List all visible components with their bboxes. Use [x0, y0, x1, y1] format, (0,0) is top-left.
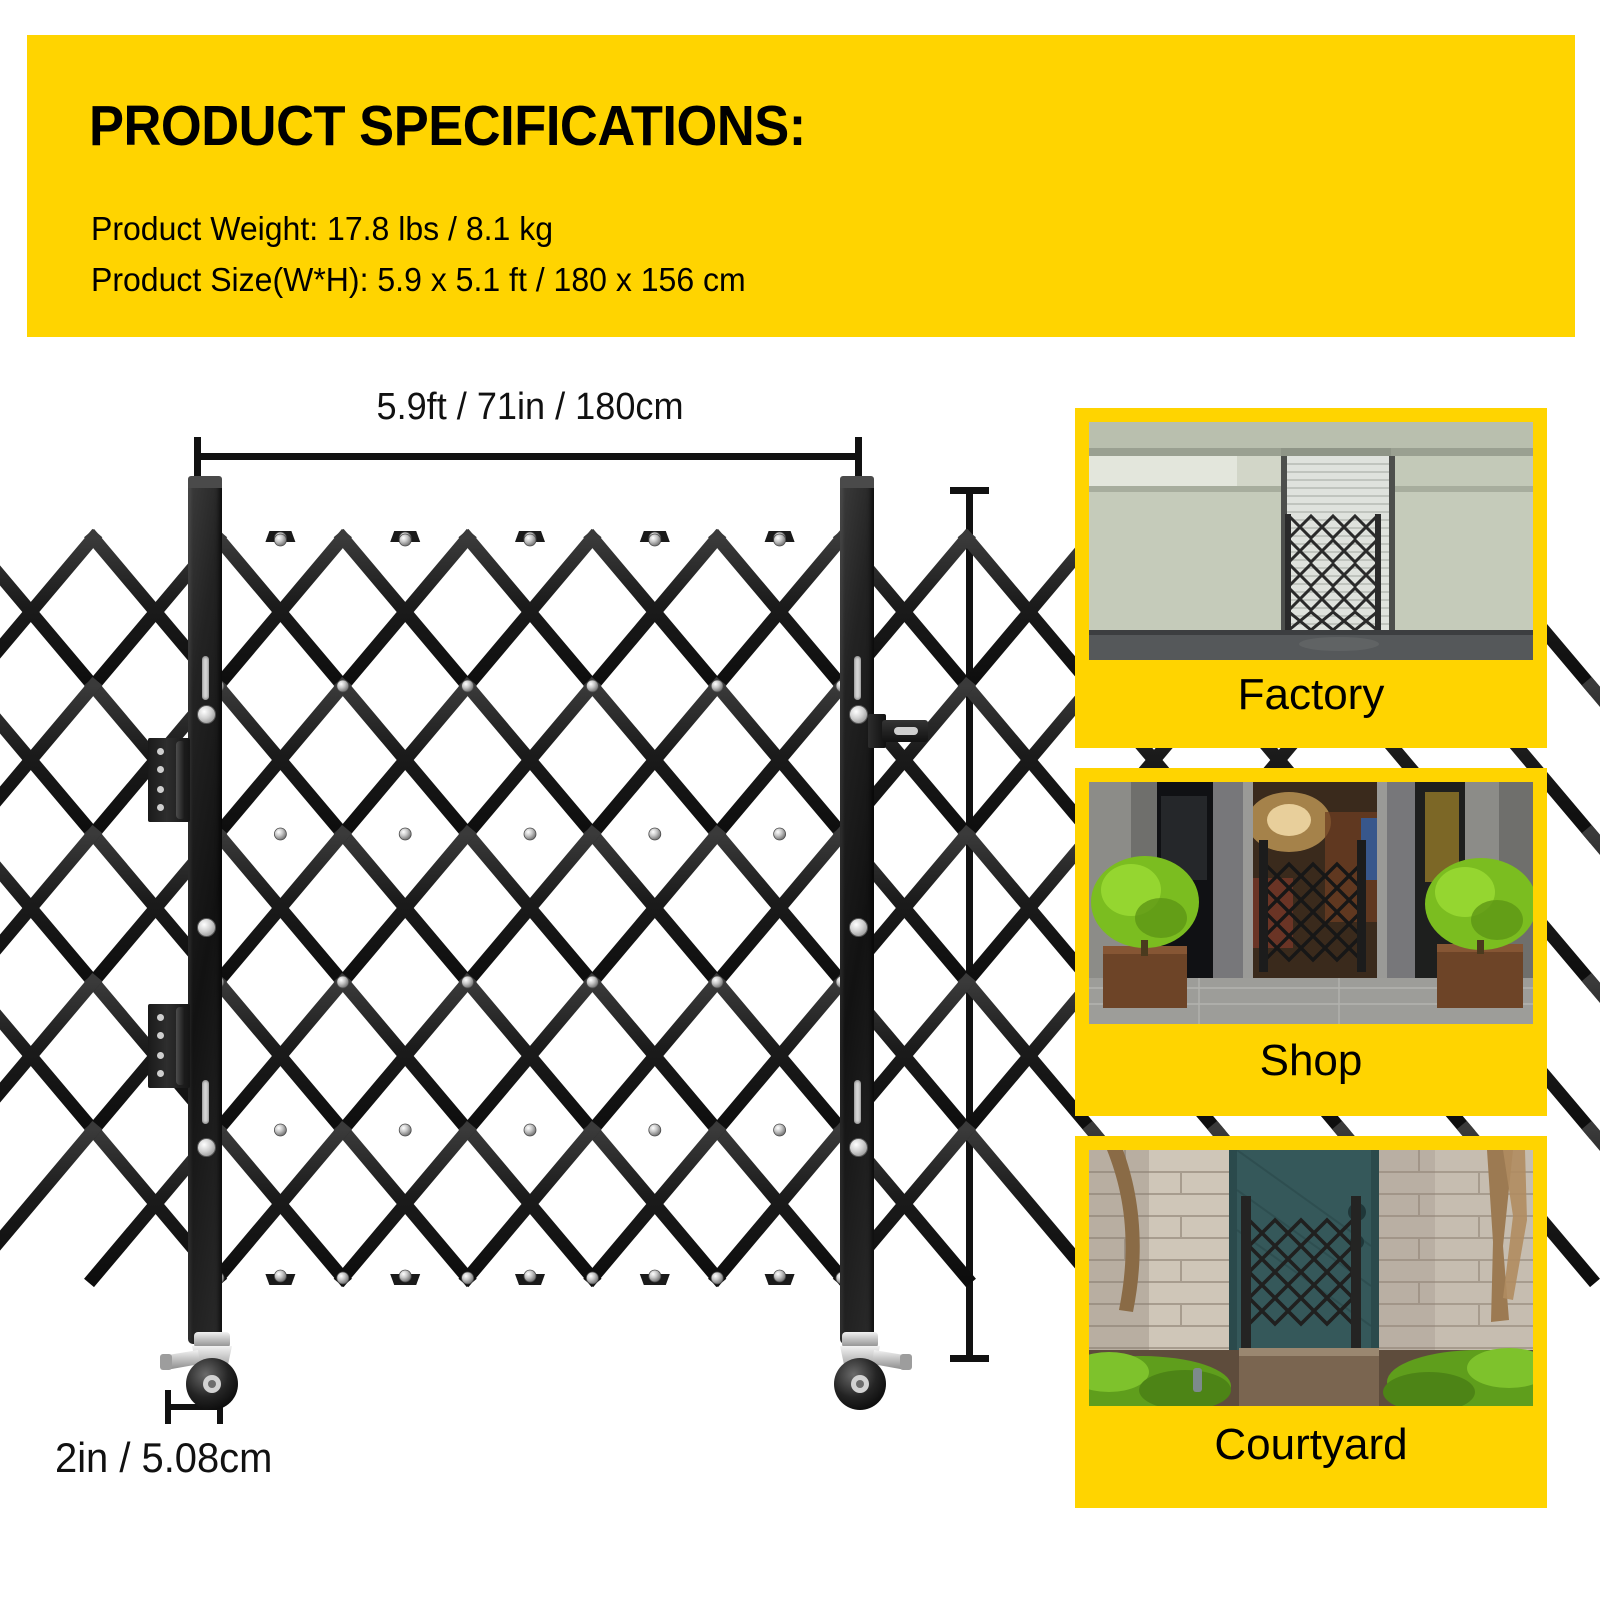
- height-dimension-line: [950, 487, 988, 1362]
- scenario-label-shop: Shop: [1075, 1036, 1547, 1086]
- height-dim-cap-bottom: [950, 1355, 989, 1362]
- scenario-card-shop[interactable]: Shop: [1075, 768, 1547, 1116]
- height-dim-bar: [966, 487, 973, 1362]
- product-specifications-banner: PRODUCT SPECIFICATIONS: Product Weight: …: [27, 35, 1575, 337]
- gate-post-left-cap: [188, 476, 222, 488]
- post-bolt-left-3: [197, 1138, 216, 1157]
- scenario-photo-factory: [1089, 422, 1533, 660]
- gate-post-left: [188, 482, 222, 1344]
- spec-product-weight: Product Weight: 17.8 lbs / 8.1 kg: [91, 210, 553, 248]
- post-slot-right-lower: [854, 1080, 861, 1124]
- width-dim-bar: [194, 453, 862, 460]
- post-bolt-right-2: [849, 918, 868, 937]
- post-bolt-left-2: [197, 918, 216, 937]
- expandable-lattice-mesh: [218, 538, 842, 1278]
- page-title: PRODUCT SPECIFICATIONS:: [89, 93, 806, 159]
- post-bolt-right-3: [849, 1138, 868, 1157]
- post-slot-left-lower: [202, 1080, 209, 1124]
- width-dimension-label: 5.9ft / 71in / 180cm: [207, 386, 853, 429]
- gate-latch-bracket: [868, 708, 926, 752]
- scenario-photo-courtyard: [1089, 1150, 1533, 1406]
- post-slot-left-upper: [202, 656, 209, 700]
- post-bolt-right-1: [849, 705, 868, 724]
- scenario-photo-shop: [1089, 782, 1533, 1024]
- caster-wheel-left: [154, 1326, 266, 1418]
- scenario-label-factory: Factory: [1075, 670, 1547, 720]
- scenario-card-factory[interactable]: Factory: [1075, 408, 1547, 748]
- gate-hinge-lower: [148, 1004, 190, 1088]
- gate-hinge-upper: [148, 738, 190, 822]
- gate-post-right: [840, 482, 874, 1344]
- gate-post-right-cap: [840, 476, 874, 488]
- spec-product-size: Product Size(W*H): 5.9 x 5.1 ft / 180 x …: [91, 261, 746, 299]
- post-bolt-left-1: [197, 705, 216, 724]
- folding-security-gate-illustration: [150, 470, 910, 1410]
- scenario-card-courtyard[interactable]: Courtyard: [1075, 1136, 1547, 1508]
- scenario-label-courtyard: Courtyard: [1075, 1420, 1547, 1470]
- caster-dimension-label: 2in / 5.08cm: [55, 1434, 272, 1482]
- post-slot-right-upper: [854, 656, 861, 700]
- caster-wheel-right: [806, 1326, 918, 1418]
